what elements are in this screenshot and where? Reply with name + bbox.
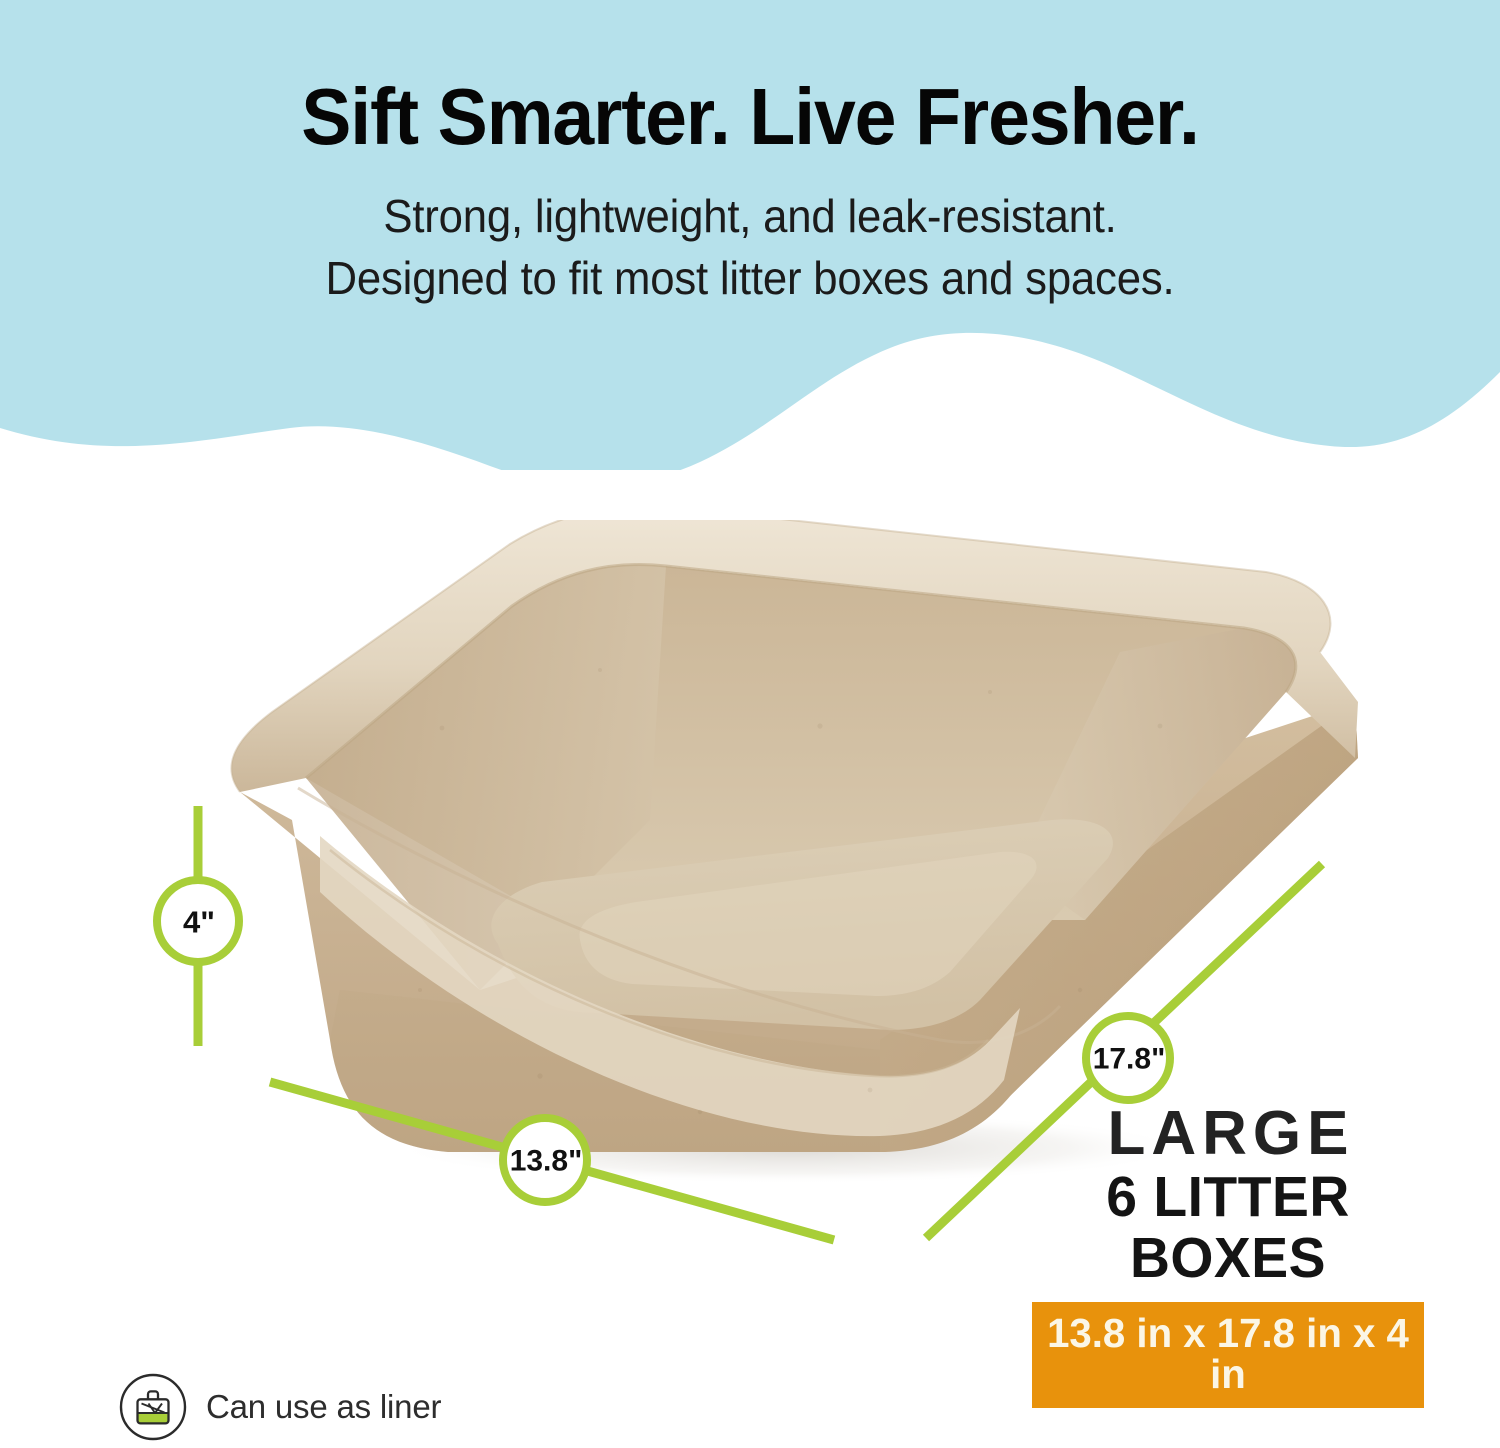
header-wave-band — [0, 0, 1500, 470]
product-image — [180, 520, 1360, 1200]
pet-carrier-icon — [118, 1372, 188, 1442]
pet-carrier-icon-base — [138, 1413, 169, 1423]
feature-can-use-as-liner: Can use as liner — [118, 1372, 441, 1442]
product-infographic: Sift Smarter. Live Fresher. Strong, ligh… — [0, 0, 1500, 1448]
size-info-block: LARGE 6 LITTER BOXES 13.8 in x 17.8 in x… — [1028, 1103, 1428, 1408]
feature-label: Can use as liner — [206, 1388, 441, 1426]
pack-count-label: 6 LITTER BOXES — [1034, 1167, 1422, 1288]
size-label: LARGE — [1028, 1103, 1428, 1165]
measurement-badge: 13.8 in x 17.8 in x 4 in — [1032, 1302, 1424, 1408]
